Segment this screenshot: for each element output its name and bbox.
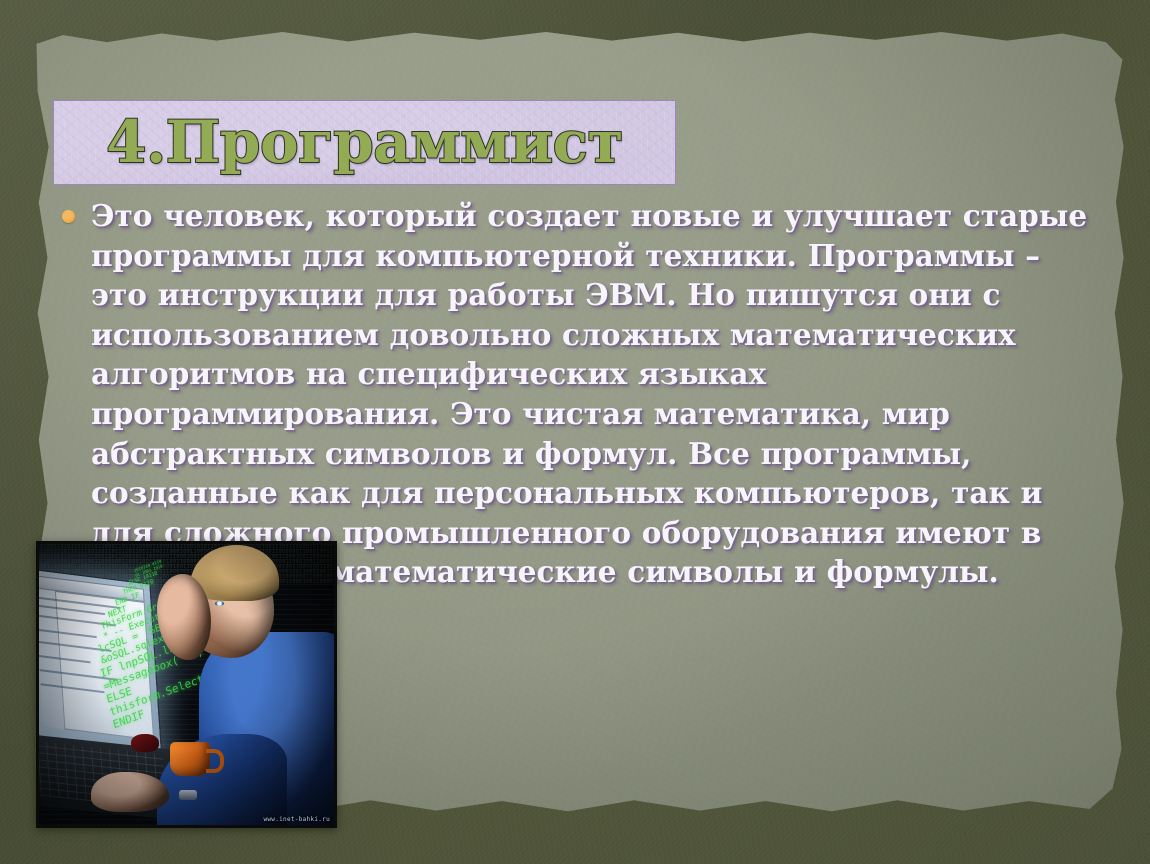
- photo-watermark: www.inet-bahki.ru: [263, 816, 330, 823]
- programmer-photo: 0100110101101001011000110110100001100001…: [36, 541, 337, 828]
- title-banner: 4.Программист: [53, 100, 676, 185]
- bullet-list-item: Это человек, который создает новые и улу…: [62, 196, 1092, 592]
- body-paragraph: Это человек, который создает новые и улу…: [91, 196, 1092, 592]
- bullet-dot-icon: [62, 210, 75, 223]
- slide-title: 4.Программист: [54, 100, 675, 183]
- presentation-slide: 4.Программист Это человек, который созда…: [0, 0, 1150, 864]
- photo-canvas: 0100110101101001011000110110100001100001…: [39, 544, 334, 825]
- photo-vignette: [39, 544, 334, 825]
